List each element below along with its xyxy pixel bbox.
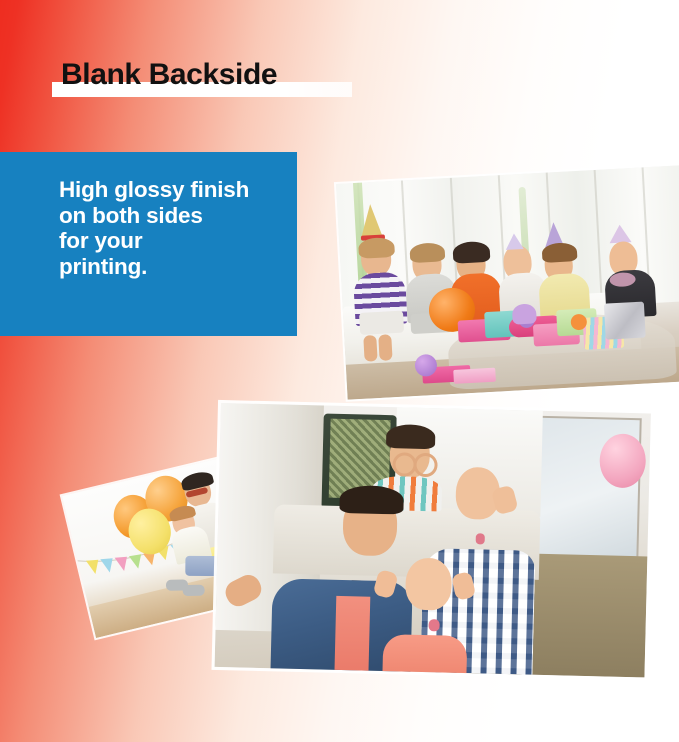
party-scene: [336, 165, 679, 399]
feature-panel-text: High glossy finish on both sides for you…: [59, 177, 299, 279]
selfie-scene: [215, 403, 651, 677]
child-hair: [452, 241, 490, 264]
feature-line-1: High glossy finish: [59, 177, 299, 203]
party-crown: [609, 224, 632, 243]
child-shoe: [182, 584, 204, 596]
photo-family-selfie: [215, 403, 651, 677]
gift-box-floor: [453, 368, 496, 384]
father-tshirt: [335, 596, 371, 676]
child-shorts: [359, 310, 404, 334]
feature-line-3: for your: [59, 228, 299, 254]
mother-tongue: [476, 533, 485, 544]
gift-bag-silver: [604, 301, 646, 339]
party-tiara: [505, 233, 524, 250]
product-feature-banner: Blank Backside High glossy finish on bot…: [0, 0, 679, 742]
gift-bow: [511, 303, 536, 324]
photo-kids-birthday-party: [336, 165, 679, 399]
party-hat: [359, 203, 383, 238]
father-hair: [340, 485, 405, 515]
boy-hair: [386, 424, 436, 449]
feature-line-4: printing.: [59, 254, 299, 280]
child-hair: [541, 242, 577, 263]
girl-top: [382, 634, 467, 677]
feature-panel: High glossy finish on both sides for you…: [0, 152, 297, 336]
gift-bow: [570, 313, 587, 330]
child-leg: [379, 335, 393, 362]
girl-tongue: [428, 619, 439, 631]
girl-head: [405, 558, 452, 611]
child-hair: [358, 237, 395, 259]
child-leg: [363, 335, 377, 362]
feature-line-2: on both sides: [59, 203, 299, 229]
child-hair: [410, 242, 446, 263]
page-title: Blank Backside: [61, 55, 277, 95]
